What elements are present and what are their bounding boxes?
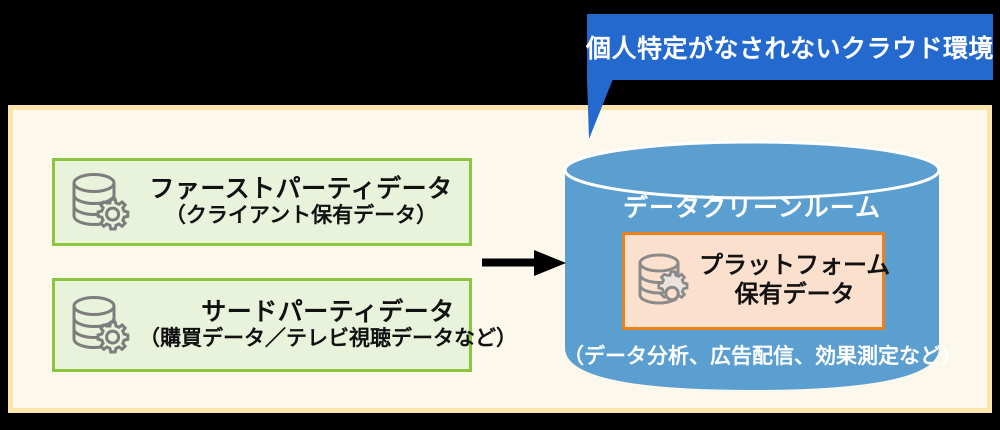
cleanroom-title: データクリーンルーム (563, 188, 941, 224)
first-party-data-title: ファーストパーティデータ (139, 175, 463, 205)
cylinder-content: データクリーンルーム プラットフォーム 保有データ （データ分析、広告配信、効果… (563, 138, 941, 392)
platform-data-label: プラットフォーム 保有データ (699, 252, 894, 310)
cleanroom-note: （データ分析、広告配信、効果測定など） (563, 340, 941, 370)
platform-data-line1: プラットフォーム (699, 252, 890, 281)
database-gear-icon (69, 171, 133, 233)
third-party-data-box: サードパーティデータ （購買データ／テレビ視聴データなど） (52, 278, 472, 372)
platform-data-line2: 保有データ (699, 281, 890, 310)
platform-data-box: プラットフォーム 保有データ (622, 232, 885, 330)
third-party-data-title: サードパーティデータ (139, 298, 517, 328)
callout-balloon: 個人特定がなされないクラウド環境 (587, 14, 993, 80)
first-party-data-subtitle: （クライアント保有データ） (139, 204, 463, 229)
third-party-data-subtitle: （購買データ／テレビ視聴データなど） (139, 327, 517, 352)
arrow-right-icon (482, 248, 566, 278)
callout-tail (587, 79, 617, 139)
database-gear-icon (635, 251, 697, 311)
first-party-data-box: ファーストパーティデータ （クライアント保有データ） (52, 158, 472, 246)
database-gear-icon (69, 294, 133, 356)
first-party-data-label: ファーストパーティデータ （クライアント保有データ） (139, 175, 469, 229)
third-party-data-label: サードパーティデータ （購買データ／テレビ視聴データなど） (139, 298, 523, 352)
callout-text: 個人特定がなされないクラウド環境 (587, 14, 993, 80)
